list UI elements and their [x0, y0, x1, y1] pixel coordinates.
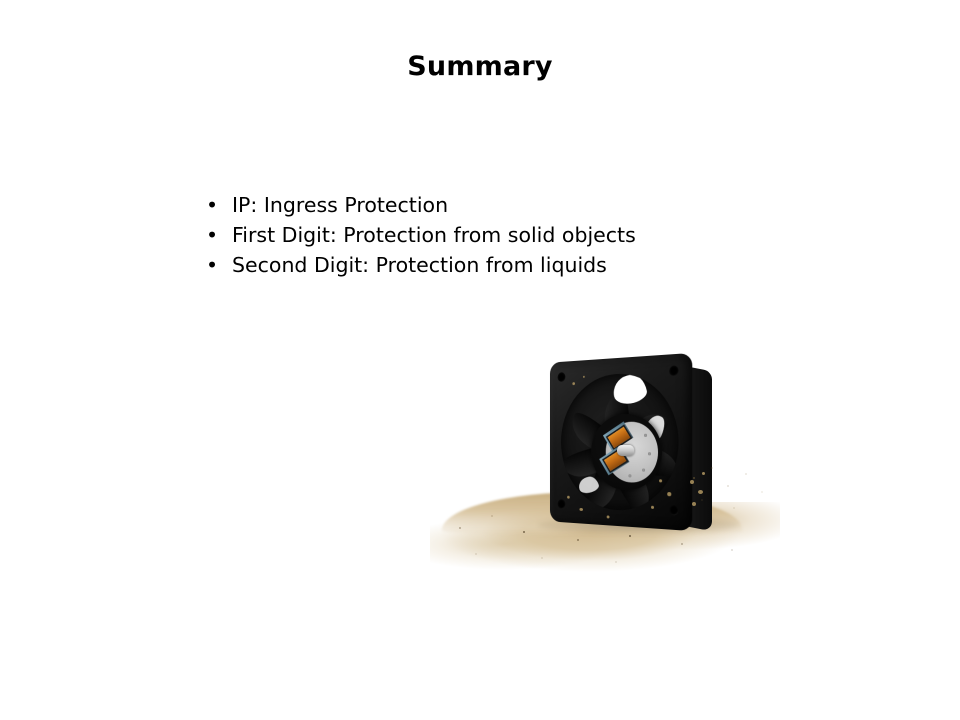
- fan-blade-assembly: [561, 371, 679, 514]
- mount-hole: [669, 365, 678, 376]
- sand-scatter: [682, 460, 790, 546]
- bullet-marker-icon: •: [206, 190, 218, 220]
- bullet-marker-icon: •: [206, 250, 218, 280]
- fan-motor-hub: [591, 413, 662, 492]
- page-title: Summary: [0, 52, 960, 82]
- mount-hole: [669, 505, 678, 516]
- list-item-label: Second Digit: Protection from liquids: [232, 253, 607, 277]
- list-item: • Second Digit: Protection from liquids: [202, 250, 842, 280]
- motor-shaft: [617, 445, 634, 456]
- mount-hole: [558, 372, 566, 382]
- slide-canvas: Summary • IP: Ingress Protection • First…: [0, 0, 960, 720]
- list-item: • First Digit: Protection from solid obj…: [202, 220, 842, 250]
- list-item-label: IP: Ingress Protection: [232, 193, 448, 217]
- summary-bullet-list: • IP: Ingress Protection • First Digit: …: [202, 190, 842, 280]
- list-item: • IP: Ingress Protection: [202, 190, 842, 220]
- list-item-label: First Digit: Protection from solid objec…: [232, 223, 636, 247]
- axial-fan-in-sand-photo: [420, 330, 790, 600]
- bullet-marker-icon: •: [206, 220, 218, 250]
- mount-hole: [558, 499, 566, 509]
- fan-frame: [550, 353, 692, 531]
